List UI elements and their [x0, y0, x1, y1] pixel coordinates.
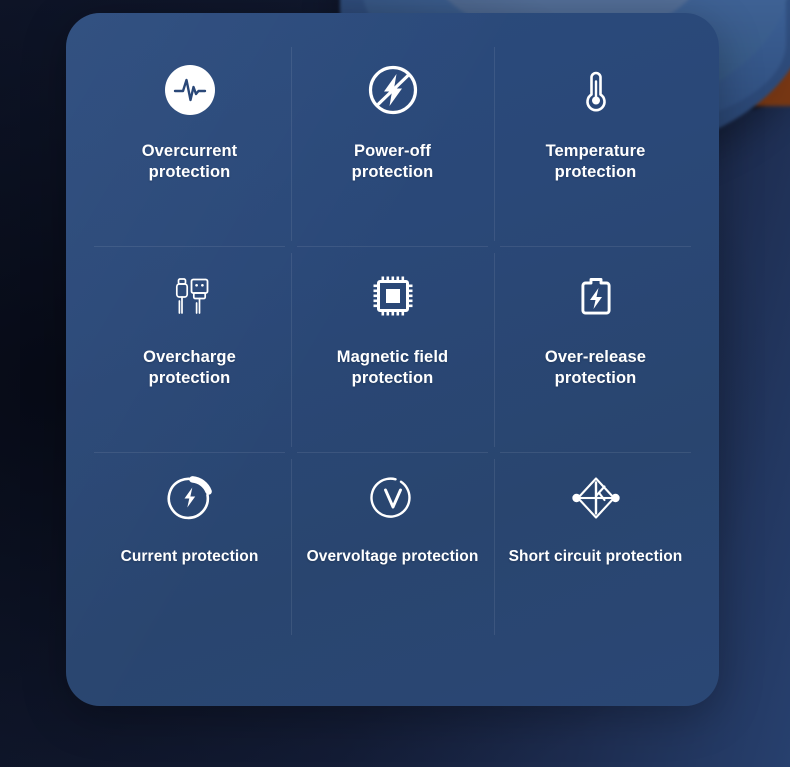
- lightning-bolt-slashed-circle-icon: [366, 51, 420, 129]
- feature-label: Short circuit protection: [509, 547, 683, 567]
- promo-graphic-stage: Overcurrent protection Power-off protect…: [0, 0, 790, 767]
- voltage-v-circle-icon: [365, 463, 421, 533]
- feature-label: Over-release protection: [545, 347, 646, 389]
- feature-cell-temperature[interactable]: Temperature protection: [494, 41, 697, 247]
- feature-cell-power-off[interactable]: Power-off protection: [291, 41, 494, 247]
- bolt-in-ring-icon: [162, 463, 218, 533]
- usb-cable-connectors-icon: [162, 257, 218, 335]
- feature-label: Magnetic field protection: [337, 347, 448, 389]
- battery-bolt-icon: [569, 257, 623, 335]
- feature-label: Overcurrent protection: [142, 141, 238, 183]
- feature-cell-current[interactable]: Current protection: [88, 453, 291, 641]
- feature-cell-overcharge[interactable]: Overcharge protection: [88, 247, 291, 453]
- pulse-waveform-circle-icon: [163, 51, 217, 129]
- feature-cell-over-release[interactable]: Over-release protection: [494, 247, 697, 453]
- feature-label: Temperature protection: [546, 141, 646, 183]
- feature-label: Overcharge protection: [143, 347, 236, 389]
- feature-label: Overvoltage protection: [307, 547, 479, 567]
- feature-cell-overcurrent[interactable]: Overcurrent protection: [88, 41, 291, 247]
- feature-cell-overvoltage[interactable]: Overvoltage protection: [291, 453, 494, 641]
- feature-label: Power-off protection: [352, 141, 434, 183]
- feature-cell-short-circuit[interactable]: Short circuit protection: [494, 453, 697, 641]
- features-panel: Overcurrent protection Power-off protect…: [66, 13, 719, 706]
- short-circuit-diamond-icon: [566, 463, 626, 533]
- thermometer-icon: [569, 51, 623, 129]
- microchip-icon: [365, 257, 421, 335]
- feature-label: Current protection: [121, 547, 259, 567]
- features-grid: Overcurrent protection Power-off protect…: [88, 41, 697, 641]
- feature-cell-magnetic-field[interactable]: Magnetic field protection: [291, 247, 494, 453]
